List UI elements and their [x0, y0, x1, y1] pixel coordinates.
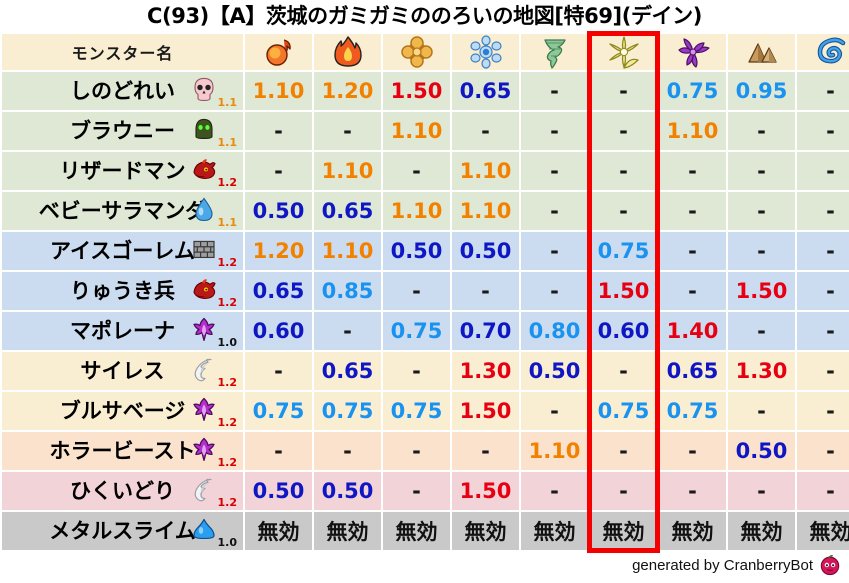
resistance-cell: - [590, 152, 657, 190]
resistance-cell: 0.65 [314, 192, 381, 230]
resistance-cell: - [797, 352, 849, 390]
slime-icon [191, 516, 217, 542]
footer-text: generated by CranberryBot [632, 557, 813, 574]
dragonhead-icon [191, 156, 217, 182]
resistance-cell: 0.50 [245, 192, 312, 230]
table-row: しのどれい1.11.101.201.500.65--0.750.95- [2, 72, 849, 110]
resistance-cell: 1.10 [659, 112, 726, 150]
wing-icon [191, 356, 217, 382]
resistance-cell: - [728, 112, 795, 150]
monster-name-label: しのどれい [70, 72, 175, 110]
resistance-cell: 0.65 [452, 72, 519, 110]
resistance-cell: - [728, 192, 795, 230]
monster-version-label: 1.2 [218, 416, 238, 429]
monster-version-label: 1.1 [218, 216, 238, 229]
resistance-cell: 無効 [452, 512, 519, 550]
table-row: ブルサベージ1.20.750.750.751.50-0.750.75-- [2, 392, 849, 430]
monster-name-label: マポレーナ [70, 312, 175, 350]
resistance-cell: 0.50 [452, 232, 519, 270]
resistance-cell: 0.50 [245, 472, 312, 510]
monster-name-label: メタルスライム [49, 512, 196, 550]
resistance-cell: - [728, 472, 795, 510]
table-row: ブラウニー1.1--1.10---1.10-- [2, 112, 849, 150]
resistance-cell: 無効 [314, 512, 381, 550]
monster-version-label: 1.2 [218, 296, 238, 309]
column-header-monster-name: モンスター名 [2, 34, 243, 70]
resistance-cell: 1.30 [452, 352, 519, 390]
resistance-cell: - [383, 472, 450, 510]
monster-name-label: ブルサベージ [60, 392, 186, 430]
table-row: ベビーサラマンダ1.10.500.651.101.10----- [2, 192, 849, 230]
resistance-cell: - [383, 352, 450, 390]
column-header-element-2[interactable] [383, 34, 450, 70]
monster-name-cell[interactable]: リザードマン1.2 [2, 152, 243, 190]
resistance-cell: 1.10 [383, 192, 450, 230]
resistance-cell: - [245, 112, 312, 150]
resistance-cell: - [659, 272, 726, 310]
resistance-cell: 0.85 [314, 272, 381, 310]
resistance-cell: - [590, 192, 657, 230]
resistance-cell: - [521, 272, 588, 310]
resistance-cell: 無効 [797, 512, 849, 550]
resistance-cell: - [728, 152, 795, 190]
resistance-cell: - [314, 312, 381, 350]
resistance-cell: - [797, 392, 849, 430]
monster-name-cell[interactable]: ブルサベージ1.2 [2, 392, 243, 430]
monster-version-label: 1.2 [218, 456, 238, 469]
resistance-cell: - [797, 152, 849, 190]
resistance-cell: 0.50 [521, 352, 588, 390]
resistance-cell: 0.50 [728, 432, 795, 470]
table-row: ホラービースト1.2----1.10--0.50- [2, 432, 849, 470]
resistance-cell: - [797, 192, 849, 230]
monster-name-cell[interactable]: ホラービースト1.2 [2, 432, 243, 470]
resistance-cell: 無効 [590, 512, 657, 550]
monster-name-cell[interactable]: アイスゴーレム1.2 [2, 232, 243, 270]
column-header-element-5[interactable] [590, 34, 657, 70]
monster-version-label: 1.1 [218, 136, 238, 149]
resistance-cell: 1.10 [521, 432, 588, 470]
monster-name-label: アイスゴーレム [50, 232, 195, 270]
resistance-cell: 0.80 [521, 312, 588, 350]
table-row: リザードマン1.2-1.10-1.10----- [2, 152, 849, 190]
table-row: マポレーナ1.00.60-0.750.700.800.601.40-- [2, 312, 849, 350]
column-header-element-1[interactable] [314, 34, 381, 70]
resistance-cell: - [659, 192, 726, 230]
resistance-cell: - [590, 472, 657, 510]
waterdrop-icon [191, 196, 217, 222]
monster-name-label: ホラービースト [50, 432, 196, 470]
monster-name-label: りゅうき兵 [70, 272, 175, 310]
resistance-cell: - [314, 432, 381, 470]
monster-name-cell[interactable]: しのどれい1.1 [2, 72, 243, 110]
resistance-cell: 0.50 [314, 472, 381, 510]
cranberry-icon [819, 554, 841, 576]
column-header-element-6[interactable] [659, 34, 726, 70]
resistance-cell: 1.10 [314, 232, 381, 270]
table-body: モンスター名しのどれい1.11.101.201.500.65--0.750.95… [2, 34, 849, 550]
resistance-cell: 0.75 [659, 392, 726, 430]
resistance-cell: 1.10 [452, 192, 519, 230]
monster-version-label: 1.0 [218, 336, 238, 349]
resistance-cell: 1.10 [314, 152, 381, 190]
wave-icon [814, 35, 848, 69]
resistance-cell: - [452, 272, 519, 310]
resistance-cell: - [383, 152, 450, 190]
monster-name-label: ひくいどり [70, 472, 175, 510]
resistance-cell: - [590, 432, 657, 470]
resistance-cell: - [521, 152, 588, 190]
resistance-cell: - [521, 72, 588, 110]
monster-version-label: 1.2 [218, 256, 238, 269]
resistance-cell: 1.30 [728, 352, 795, 390]
resistance-cell: 0.65 [245, 272, 312, 310]
resistance-cell: - [590, 112, 657, 150]
resistance-cell: 0.75 [590, 392, 657, 430]
starburst-icon [607, 35, 641, 69]
table-header-row: モンスター名 [2, 34, 849, 70]
column-header-element-4[interactable] [521, 34, 588, 70]
resistance-cell: 0.60 [245, 312, 312, 350]
pinwheel-icon [676, 35, 710, 69]
wing-icon [191, 476, 217, 502]
resistance-cell: - [521, 472, 588, 510]
mountain-icon [745, 35, 779, 69]
resistance-cell: - [797, 232, 849, 270]
explosion-icon [400, 35, 434, 69]
resistance-cell: - [521, 232, 588, 270]
resistance-cell: - [452, 432, 519, 470]
resistance-cell: 0.75 [659, 72, 726, 110]
table-row: メタルスライム1.0無効無効無効無効無効無効無効無効無効 [2, 512, 849, 550]
snowflake-icon [469, 35, 503, 69]
resistance-cell: 0.75 [245, 392, 312, 430]
resistance-cell: - [590, 352, 657, 390]
monster-name-cell[interactable]: ベビーサラマンダ1.1 [2, 192, 243, 230]
dragonhead-icon [191, 276, 217, 302]
resistance-cell: - [590, 72, 657, 110]
resistance-cell: 0.70 [452, 312, 519, 350]
resistance-cell: - [728, 312, 795, 350]
resistance-cell: 1.50 [452, 472, 519, 510]
resistance-cell: 1.10 [452, 152, 519, 190]
resistance-cell: 1.10 [383, 112, 450, 150]
resistance-cell: - [245, 352, 312, 390]
monster-version-label: 1.1 [218, 96, 238, 109]
resistance-cell: - [659, 232, 726, 270]
resistance-cell: 無効 [383, 512, 450, 550]
footer: generated by CranberryBot [632, 551, 841, 579]
purplecrest-icon [191, 436, 217, 462]
resistance-cell: 無効 [728, 512, 795, 550]
table-row: サイレス1.2-0.65-1.300.50-0.651.30- [2, 352, 849, 390]
resistance-cell: - [797, 272, 849, 310]
monster-name-label: サイレス [81, 352, 165, 390]
resistance-cell: 無効 [521, 512, 588, 550]
column-header-element-0[interactable] [245, 34, 312, 70]
monster-version-label: 1.2 [218, 176, 238, 189]
monster-name-cell[interactable]: ブラウニー1.1 [2, 112, 243, 150]
resistance-cell: - [728, 232, 795, 270]
resistance-cell: 0.50 [383, 232, 450, 270]
resistance-cell: - [659, 152, 726, 190]
resistance-cell: 1.50 [728, 272, 795, 310]
brickwall-icon [191, 236, 217, 262]
resistance-cell: - [314, 112, 381, 150]
resistance-cell: 1.10 [245, 72, 312, 110]
purplecrest-icon [191, 316, 217, 342]
resistance-cell: 0.60 [590, 312, 657, 350]
resistance-cell: - [452, 112, 519, 150]
resistance-cell: - [245, 432, 312, 470]
resistance-cell: - [383, 272, 450, 310]
resistance-cell: 無効 [659, 512, 726, 550]
resistance-cell: 0.65 [314, 352, 381, 390]
resistance-cell: - [728, 392, 795, 430]
monster-name-label: ベビーサラマンダ [39, 192, 207, 230]
fireball-icon [262, 35, 296, 69]
resistance-cell: 0.75 [590, 232, 657, 270]
resistance-cell: 1.40 [659, 312, 726, 350]
monster-version-label: 1.2 [218, 376, 238, 389]
resistance-cell: 0.65 [659, 352, 726, 390]
monster-name-label: ブラウニー [70, 112, 175, 150]
resistance-cell: - [659, 472, 726, 510]
table-row: ひくいどり1.20.500.50-1.50----- [2, 472, 849, 510]
column-header-element-3[interactable] [452, 34, 519, 70]
resistance-cell: - [797, 472, 849, 510]
resistance-cell: - [659, 432, 726, 470]
monster-version-label: 1.2 [218, 496, 238, 509]
resistance-cell: 1.50 [590, 272, 657, 310]
resistance-cell: - [797, 112, 849, 150]
flame-icon [331, 35, 365, 69]
resistance-cell: 0.75 [314, 392, 381, 430]
table-row: りゅうき兵1.20.650.85---1.50-1.50- [2, 272, 849, 310]
resistance-cell: - [797, 72, 849, 110]
monster-version-label: 1.0 [218, 536, 238, 549]
tornado-icon [538, 35, 572, 69]
column-header-element-7[interactable] [728, 34, 795, 70]
resistance-cell: - [245, 152, 312, 190]
resistance-cell: 1.50 [452, 392, 519, 430]
table-row: アイスゴーレム1.21.201.100.500.50-0.75--- [2, 232, 849, 270]
resistance-cell: - [383, 432, 450, 470]
column-header-element-8[interactable] [797, 34, 849, 70]
resistance-cell: - [797, 432, 849, 470]
page-title: C(93)【A】茨城のガミガミののろいの地図[特69](デイン) [0, 0, 849, 32]
resistance-cell: 1.50 [383, 72, 450, 110]
monster-name-cell[interactable]: メタルスライム1.0 [2, 512, 243, 550]
resistance-cell: 無効 [245, 512, 312, 550]
monster-name-cell[interactable]: マポレーナ1.0 [2, 312, 243, 350]
skull-icon [191, 76, 217, 102]
resistance-cell: - [521, 192, 588, 230]
resistance-cell: 0.95 [728, 72, 795, 110]
resistance-cell: 0.75 [383, 392, 450, 430]
resistance-cell: 0.75 [383, 312, 450, 350]
greenhood-icon [191, 116, 217, 142]
purplecrest-icon [191, 396, 217, 422]
resistance-table: モンスター名しのどれい1.11.101.201.500.65--0.750.95… [0, 32, 849, 552]
monster-name-cell[interactable]: サイレス1.2 [2, 352, 243, 390]
monster-name-cell[interactable]: ひくいどり1.2 [2, 472, 243, 510]
resistance-cell: 1.20 [314, 72, 381, 110]
monster-name-label: リザードマン [60, 152, 186, 190]
resistance-cell: - [521, 392, 588, 430]
resistance-cell: - [797, 312, 849, 350]
resistance-cell: 1.20 [245, 232, 312, 270]
resistance-cell: - [521, 112, 588, 150]
monster-name-cell[interactable]: りゅうき兵1.2 [2, 272, 243, 310]
